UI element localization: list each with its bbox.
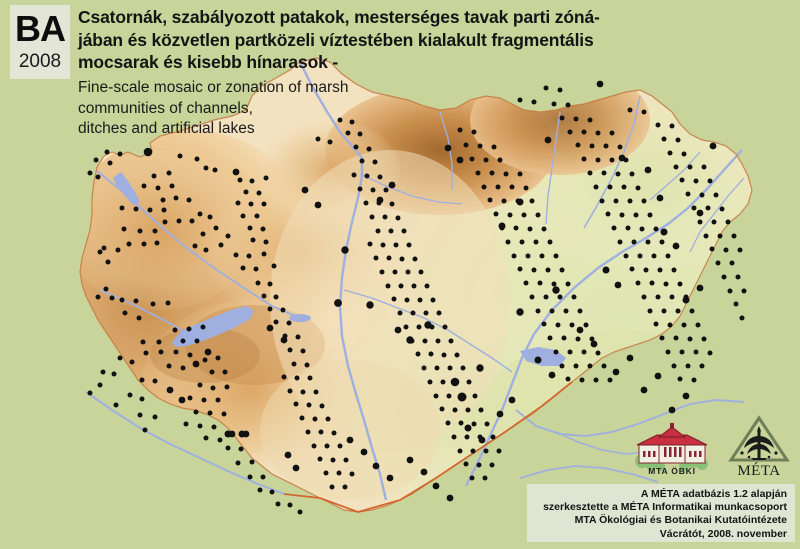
occurrence-dot bbox=[538, 281, 543, 286]
occurrence-dot bbox=[528, 227, 533, 232]
occurrence-dot bbox=[482, 185, 487, 190]
occurrence-dot bbox=[702, 165, 707, 170]
occurrence-dot bbox=[285, 452, 292, 459]
occurrence-dot bbox=[670, 124, 675, 129]
occurrence-dot bbox=[161, 198, 166, 203]
occurrence-dot bbox=[151, 302, 156, 307]
occurrence-dot bbox=[704, 234, 709, 239]
occurrence-dot bbox=[435, 366, 440, 371]
occurrence-dot bbox=[548, 240, 553, 245]
occurrence-dot bbox=[572, 295, 577, 300]
occurrence-dot bbox=[441, 380, 446, 385]
occurrence-dot bbox=[380, 270, 385, 275]
occurrence-dot bbox=[618, 145, 623, 150]
occurrence-dot bbox=[483, 476, 488, 481]
occurrence-dot bbox=[198, 424, 203, 429]
occurrence-dot bbox=[384, 188, 389, 193]
occurrence-dot bbox=[365, 174, 370, 179]
occurrence-dot bbox=[272, 264, 277, 269]
occurrence-dot bbox=[614, 199, 619, 204]
occurrence-dot bbox=[344, 458, 349, 463]
occurrence-dot bbox=[683, 297, 690, 304]
occurrence-dot bbox=[332, 431, 337, 436]
occurrence-dot bbox=[568, 130, 573, 135]
occurrence-dot bbox=[508, 213, 513, 218]
occurrence-dot bbox=[488, 198, 493, 203]
occurrence-dot bbox=[546, 268, 551, 273]
occurrence-dot bbox=[455, 353, 460, 358]
occurrence-dot bbox=[225, 385, 230, 390]
occurrence-dot bbox=[178, 154, 183, 159]
occurrence-dot bbox=[698, 220, 703, 225]
occurrence-dot bbox=[157, 340, 162, 345]
occurrence-dot bbox=[319, 430, 324, 435]
occurrence-dot bbox=[294, 402, 299, 407]
occurrence-dot bbox=[446, 421, 451, 426]
occurrence-dot bbox=[476, 171, 481, 176]
occurrence-dot bbox=[552, 102, 557, 107]
occurrence-dot bbox=[216, 356, 221, 361]
meta-plant-icon bbox=[740, 426, 777, 460]
occurrence-dot bbox=[544, 295, 549, 300]
occurrence-dot bbox=[148, 208, 153, 213]
occurrence-dot bbox=[471, 449, 476, 454]
occurrence-dot bbox=[578, 309, 583, 314]
occurrence-dot bbox=[648, 309, 653, 314]
occurrence-dot bbox=[442, 353, 447, 358]
occurrence-dot bbox=[208, 411, 213, 416]
credits-line-4: Vácrátót, 2008. november bbox=[527, 528, 787, 541]
occurrence-dot bbox=[293, 465, 300, 472]
occurrence-dot bbox=[498, 158, 503, 163]
occurrence-dot bbox=[140, 397, 145, 402]
occurrence-dot bbox=[472, 422, 477, 427]
occurrence-dot bbox=[201, 325, 206, 330]
occurrence-dot bbox=[706, 206, 711, 211]
occurrence-dot bbox=[662, 137, 667, 142]
occurrence-dot bbox=[534, 240, 539, 245]
occurrence-dot bbox=[588, 118, 593, 123]
occurrence-dot bbox=[530, 295, 535, 300]
occurrence-dot bbox=[694, 350, 699, 355]
occurrence-dot bbox=[188, 396, 193, 401]
occurrence-dot bbox=[544, 86, 549, 91]
occurrence-dot bbox=[96, 295, 101, 300]
title-hu-line-1: Csatornák, szabályozott patakok, mesters… bbox=[78, 6, 794, 29]
occurrence-dot bbox=[524, 186, 529, 191]
occurrence-dot bbox=[470, 157, 475, 162]
occurrence-dot bbox=[668, 151, 673, 156]
occurrence-dot bbox=[174, 196, 179, 201]
occurrence-dot bbox=[596, 351, 601, 356]
occurrence-dot bbox=[187, 198, 192, 203]
poster-root: BA 2008 Csatornák, szabályozott patakok,… bbox=[0, 0, 800, 549]
occurrence-dot bbox=[376, 229, 381, 234]
occurrence-dot bbox=[312, 444, 317, 449]
occurrence-dot bbox=[179, 397, 186, 404]
occurrence-dot bbox=[244, 190, 249, 195]
occurrence-dot bbox=[256, 281, 261, 286]
occurrence-dot bbox=[218, 438, 223, 443]
occurrence-dot bbox=[628, 199, 633, 204]
occurrence-dot bbox=[594, 185, 599, 190]
occurrence-dot bbox=[514, 226, 519, 231]
occurrence-dot bbox=[314, 390, 319, 395]
occurrence-dot bbox=[484, 158, 489, 163]
occurrence-dot bbox=[406, 270, 411, 275]
title-en-line-1: Fine-scale mosaic or zonation of marsh bbox=[78, 78, 498, 99]
occurrence-dot bbox=[642, 295, 647, 300]
occurrence-dot bbox=[387, 475, 394, 482]
occurrence-dot bbox=[628, 108, 633, 113]
occurrence-dot bbox=[447, 394, 452, 399]
occurrence-dot bbox=[582, 130, 587, 135]
occurrence-dot bbox=[292, 362, 297, 367]
habitat-code: BA bbox=[15, 7, 65, 51]
occurrence-dot bbox=[710, 143, 717, 150]
occurrence-dot bbox=[370, 215, 375, 220]
occurrence-dot bbox=[181, 366, 186, 371]
occurrence-dot bbox=[532, 100, 537, 105]
occurrence-dot bbox=[138, 229, 143, 234]
occurrence-dot bbox=[602, 171, 607, 176]
occurrence-dot bbox=[535, 357, 542, 364]
occurrence-dot bbox=[582, 157, 587, 162]
occurrence-dot bbox=[451, 378, 460, 387]
title-en-line-2: communities of channels, bbox=[78, 99, 498, 120]
occurrence-dot bbox=[251, 238, 256, 243]
occurrence-dot bbox=[464, 143, 469, 148]
occurrence-dot bbox=[485, 422, 490, 427]
occurrence-dot bbox=[597, 81, 604, 88]
occurrence-dot bbox=[726, 220, 731, 225]
occurrence-dot bbox=[127, 242, 132, 247]
occurrence-dot bbox=[566, 282, 571, 287]
occurrence-dot bbox=[664, 282, 669, 287]
occurrence-dot bbox=[702, 337, 707, 342]
occurrence-dot bbox=[219, 243, 224, 248]
occurrence-dot bbox=[459, 421, 464, 426]
occurrence-dot bbox=[331, 458, 336, 463]
occurrence-dot bbox=[491, 435, 496, 440]
occurrence-dot bbox=[596, 158, 601, 163]
mta-obki-logo: MTA ÖBKI bbox=[633, 421, 711, 477]
title-english: Fine-scale mosaic or zonation of marsh c… bbox=[78, 78, 498, 140]
occurrence-dot bbox=[506, 240, 511, 245]
occurrence-dot bbox=[650, 281, 655, 286]
occurrence-dot bbox=[473, 394, 478, 399]
occurrence-dot bbox=[194, 410, 199, 415]
occurrence-dot bbox=[352, 173, 357, 178]
occurrence-dot bbox=[588, 364, 593, 369]
occurrence-dot bbox=[457, 157, 464, 164]
occurrence-dot bbox=[394, 243, 399, 248]
title-hu-line-2: jában és közvetlen partközeli víztestébe… bbox=[78, 29, 794, 52]
occurrence-dot bbox=[373, 160, 378, 165]
occurrence-dot bbox=[306, 430, 311, 435]
occurrence-dot bbox=[673, 243, 680, 250]
occurrence-dot bbox=[120, 298, 125, 303]
occurrence-dot bbox=[296, 335, 301, 340]
occurrence-dot bbox=[268, 282, 273, 287]
occurrence-dot bbox=[700, 364, 705, 369]
occurrence-dot bbox=[676, 138, 681, 143]
occurrence-dot bbox=[88, 391, 93, 396]
occurrence-dot bbox=[222, 412, 227, 417]
occurrence-dot bbox=[560, 364, 565, 369]
occurrence-dot bbox=[497, 449, 502, 454]
occurrence-dot bbox=[326, 417, 331, 422]
occurrence-dot bbox=[402, 229, 407, 234]
occurrence-dot bbox=[288, 389, 293, 394]
occurrence-dot bbox=[512, 254, 517, 259]
occurrence-dot bbox=[205, 349, 212, 356]
occurrence-dot bbox=[163, 220, 168, 225]
occurrence-dot bbox=[241, 266, 246, 271]
occurrence-dot bbox=[396, 216, 401, 221]
occurrence-dot bbox=[187, 327, 192, 332]
occurrence-dot bbox=[308, 376, 313, 381]
occurrence-dot bbox=[516, 308, 523, 315]
occurrence-dot bbox=[670, 295, 675, 300]
occurrence-dot bbox=[683, 393, 690, 400]
occurrence-dot bbox=[173, 328, 178, 333]
occurrence-dot bbox=[552, 282, 557, 287]
occurrence-dot bbox=[608, 185, 613, 190]
occurrence-dot bbox=[736, 275, 741, 280]
occurrence-dot bbox=[634, 213, 639, 218]
occurrence-dot bbox=[666, 350, 671, 355]
occurrence-dot bbox=[318, 457, 323, 462]
occurrence-dot bbox=[424, 311, 429, 316]
occurrence-dot bbox=[422, 366, 427, 371]
occurrence-dot bbox=[720, 207, 725, 212]
occurrence-dot bbox=[656, 123, 661, 128]
occurrence-dot bbox=[276, 502, 281, 507]
occurrence-dot bbox=[626, 226, 631, 231]
occurrence-dot bbox=[708, 179, 713, 184]
occurrence-dot bbox=[421, 469, 428, 476]
occurrence-dot bbox=[137, 316, 142, 321]
occurrence-dot bbox=[640, 227, 645, 232]
occurrence-dot bbox=[270, 490, 275, 495]
occurrence-dot bbox=[167, 171, 172, 176]
occurrence-dot bbox=[140, 378, 145, 383]
occurrence-dot bbox=[152, 174, 157, 179]
occurrence-dot bbox=[616, 172, 621, 177]
occurrence-dot bbox=[696, 323, 701, 328]
occurrence-dot bbox=[354, 145, 359, 150]
occurrence-dot bbox=[360, 159, 365, 164]
occurrence-dot bbox=[638, 254, 643, 259]
habitat-year: 2008 bbox=[19, 51, 61, 73]
occurrence-dot bbox=[429, 352, 434, 357]
occurrence-dot bbox=[301, 349, 306, 354]
occurrence-dot bbox=[418, 298, 423, 303]
occurrence-dot bbox=[141, 340, 146, 345]
occurrence-dot bbox=[738, 248, 743, 253]
occurrence-dot bbox=[398, 311, 403, 316]
occurrence-dot bbox=[301, 390, 306, 395]
occurrence-dot bbox=[654, 227, 659, 232]
occurrence-dot bbox=[662, 309, 667, 314]
occurrence-dot bbox=[656, 295, 661, 300]
occurrence-dot bbox=[281, 337, 288, 344]
occurrence-dot bbox=[114, 403, 119, 408]
occurrence-dot bbox=[479, 408, 484, 413]
occurrence-dot bbox=[248, 226, 253, 231]
occurrence-dot bbox=[395, 327, 402, 334]
occurrence-dot bbox=[155, 241, 160, 246]
obki-building bbox=[637, 423, 707, 463]
occurrence-dot bbox=[734, 302, 739, 307]
occurrence-dot bbox=[216, 398, 221, 403]
occurrence-dot bbox=[262, 202, 267, 207]
occurrence-dot bbox=[669, 407, 676, 414]
occurrence-dot bbox=[274, 320, 279, 325]
occurrence-dot bbox=[411, 311, 416, 316]
occurrence-dot bbox=[697, 210, 704, 217]
occurrence-dot bbox=[204, 166, 209, 171]
occurrence-dot bbox=[195, 339, 200, 344]
occurrence-dot bbox=[536, 309, 541, 314]
occurrence-dot bbox=[568, 350, 573, 355]
occurrence-dot bbox=[204, 248, 209, 253]
occurrence-dot bbox=[416, 352, 421, 357]
occurrence-dot bbox=[181, 339, 186, 344]
occurrence-dot bbox=[449, 339, 454, 344]
occurrence-dot bbox=[492, 145, 497, 150]
occurrence-dot bbox=[193, 244, 198, 249]
occurrence-dot bbox=[558, 295, 563, 300]
meta-logo: MÉTA bbox=[727, 414, 791, 478]
occurrence-dot bbox=[281, 308, 286, 313]
occurrence-dot bbox=[494, 212, 499, 217]
occurrence-dot bbox=[644, 268, 649, 273]
occurrence-dot bbox=[261, 475, 266, 480]
occurrence-dot bbox=[708, 351, 713, 356]
occurrence-dot bbox=[404, 325, 409, 330]
occurrence-dot bbox=[223, 370, 228, 375]
occurrence-dot bbox=[479, 437, 486, 444]
occurrence-dot bbox=[130, 360, 135, 365]
occurrence-dot bbox=[564, 309, 569, 314]
occurrence-dot bbox=[405, 298, 410, 303]
occurrence-dot bbox=[686, 364, 691, 369]
occurrence-dot bbox=[413, 257, 418, 262]
occurrence-dot bbox=[104, 287, 109, 292]
occurrence-dot bbox=[98, 250, 103, 255]
occurrence-dot bbox=[428, 380, 433, 385]
occurrence-dot bbox=[364, 201, 369, 206]
occurrence-dot bbox=[288, 348, 293, 353]
occurrence-dot bbox=[159, 350, 164, 355]
occurrence-dot bbox=[554, 254, 559, 259]
occurrence-dot bbox=[476, 364, 483, 371]
occurrence-dot bbox=[295, 376, 300, 381]
occurrence-dot bbox=[337, 471, 342, 476]
occurrence-dot bbox=[371, 188, 376, 193]
occurrence-dot bbox=[504, 172, 509, 177]
occurrence-dot bbox=[642, 110, 647, 115]
occurrence-dot bbox=[477, 463, 482, 468]
occurrence-dot bbox=[261, 227, 266, 232]
occurrence-dot bbox=[577, 327, 584, 334]
occurrence-dot bbox=[193, 361, 200, 368]
occurrence-dot bbox=[550, 309, 555, 314]
habitat-code-box: BA 2008 bbox=[10, 5, 70, 79]
occurrence-dot bbox=[142, 242, 147, 247]
occurrence-dot bbox=[674, 165, 679, 170]
occurrence-dot bbox=[686, 192, 691, 197]
occurrence-dot bbox=[254, 267, 259, 272]
occurrence-dot bbox=[134, 299, 139, 304]
occurrence-dot bbox=[288, 503, 293, 508]
occurrence-dot bbox=[300, 416, 305, 421]
occurrence-dot bbox=[128, 393, 133, 398]
occurrence-dot bbox=[688, 337, 693, 342]
occurrence-dot bbox=[258, 488, 263, 493]
occurrence-dot bbox=[188, 353, 193, 358]
occurrence-dot bbox=[350, 472, 355, 477]
obki-caption: MTA ÖBKI bbox=[648, 466, 695, 476]
occurrence-dot bbox=[153, 415, 158, 420]
occurrence-dot bbox=[562, 336, 567, 341]
occurrence-dot bbox=[560, 116, 565, 121]
occurrence-dot bbox=[88, 171, 93, 176]
occurrence-dot bbox=[407, 243, 412, 248]
occurrence-dot bbox=[484, 449, 489, 454]
occurrence-dot bbox=[374, 256, 379, 261]
occurrence-dot bbox=[658, 268, 663, 273]
occurrence-dot bbox=[144, 148, 153, 157]
occurrence-dot bbox=[722, 275, 727, 280]
occurrence-dot bbox=[106, 260, 111, 265]
occurrence-dot bbox=[610, 158, 615, 163]
occurrence-dot bbox=[324, 471, 329, 476]
occurrence-dot bbox=[406, 336, 413, 343]
occurrence-dot bbox=[490, 171, 495, 176]
occurrence-dot bbox=[630, 172, 635, 177]
occurrence-dot bbox=[590, 144, 595, 149]
occurrence-dot bbox=[680, 350, 685, 355]
occurrence-dot bbox=[417, 325, 422, 330]
occurrence-dot bbox=[622, 185, 627, 190]
occurrence-dot bbox=[108, 161, 113, 166]
occurrence-dot bbox=[211, 386, 216, 391]
occurrence-dot bbox=[110, 296, 115, 301]
occurrence-dot bbox=[407, 457, 414, 464]
occurrence-dot bbox=[392, 297, 397, 302]
occurrence-dot bbox=[496, 185, 501, 190]
occurrence-dot bbox=[657, 195, 664, 202]
occurrence-dot bbox=[320, 404, 325, 409]
occurrence-dot bbox=[718, 234, 723, 239]
occurrence-dot bbox=[490, 463, 495, 468]
occurrence-dot bbox=[123, 311, 128, 316]
occurrence-dot bbox=[678, 377, 683, 382]
occurrence-dot bbox=[518, 267, 523, 272]
occurrence-dot bbox=[548, 336, 553, 341]
occurrence-dot bbox=[728, 289, 733, 294]
occurrence-dot bbox=[518, 172, 523, 177]
occurrence-dot bbox=[502, 199, 507, 204]
occurrence-dot bbox=[274, 295, 279, 300]
occurrence-dot bbox=[225, 431, 232, 438]
occurrence-dot bbox=[156, 186, 161, 191]
occurrence-dot bbox=[298, 510, 303, 515]
occurrence-dot bbox=[190, 219, 195, 224]
